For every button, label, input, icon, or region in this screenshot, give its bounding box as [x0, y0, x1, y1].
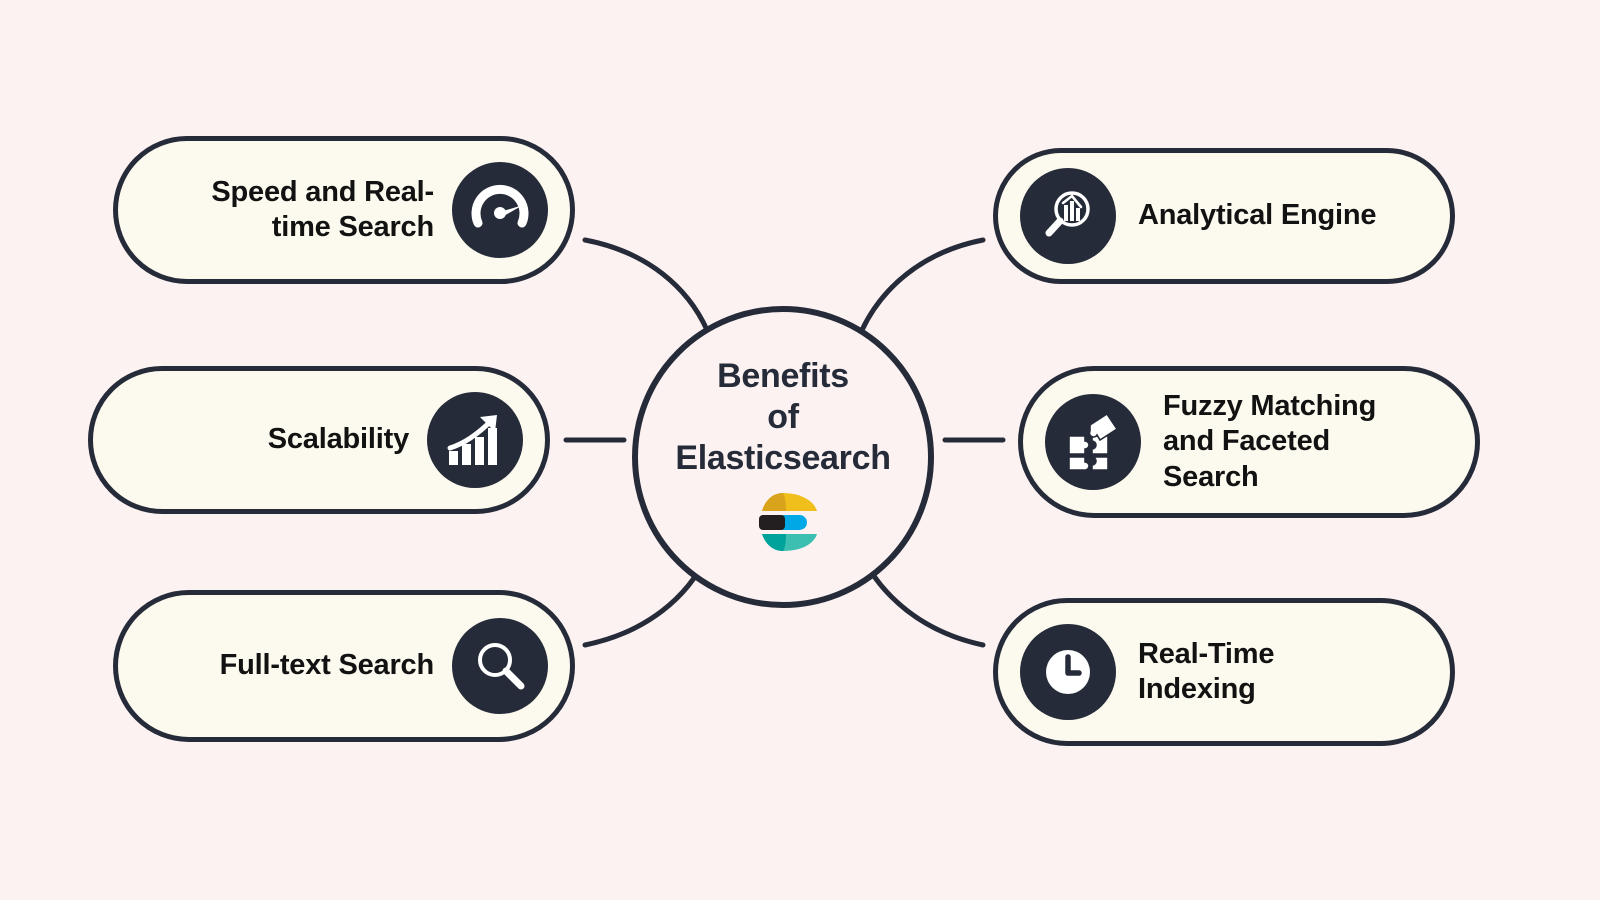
node-label: Fuzzy Matching and Faceted Search: [1163, 389, 1376, 495]
node-speed-and-real-time-search[interactable]: Speed and Real- time Search: [113, 136, 575, 284]
node-real-time-indexing[interactable]: Real-Time Indexing: [993, 598, 1455, 746]
node-scalability[interactable]: Scalability: [88, 366, 550, 514]
node-full-text-search[interactable]: Full-text Search: [113, 590, 575, 742]
connector-analytical: [862, 240, 983, 330]
node-analytical-engine[interactable]: Analytical Engine: [993, 148, 1455, 284]
node-label: Full-text Search: [220, 648, 434, 683]
node-label: Analytical Engine: [1138, 198, 1376, 233]
connector-speed: [585, 240, 707, 330]
node-label: Real-Time Indexing: [1138, 637, 1274, 708]
magnifier-chart-icon: [1020, 168, 1116, 264]
puzzle-pieces-icon: [1045, 394, 1141, 490]
growth-chart-icon: [427, 392, 523, 488]
speedometer-icon: [452, 162, 548, 258]
node-label: Speed and Real- time Search: [211, 175, 434, 246]
magnifier-icon: [452, 618, 548, 714]
clock-icon: [1020, 624, 1116, 720]
hub-title: Benefits of Elasticsearch: [675, 356, 890, 478]
mindmap-canvas: Benefits of Elasticsearch Speed and Real…: [0, 0, 1600, 900]
node-fuzzy-matching-and-faceted-search[interactable]: Fuzzy Matching and Faceted Search: [1018, 366, 1480, 518]
node-label: Scalability: [268, 422, 409, 457]
elasticsearch-logo: [746, 491, 820, 558]
center-hub[interactable]: Benefits of Elasticsearch: [632, 306, 934, 608]
